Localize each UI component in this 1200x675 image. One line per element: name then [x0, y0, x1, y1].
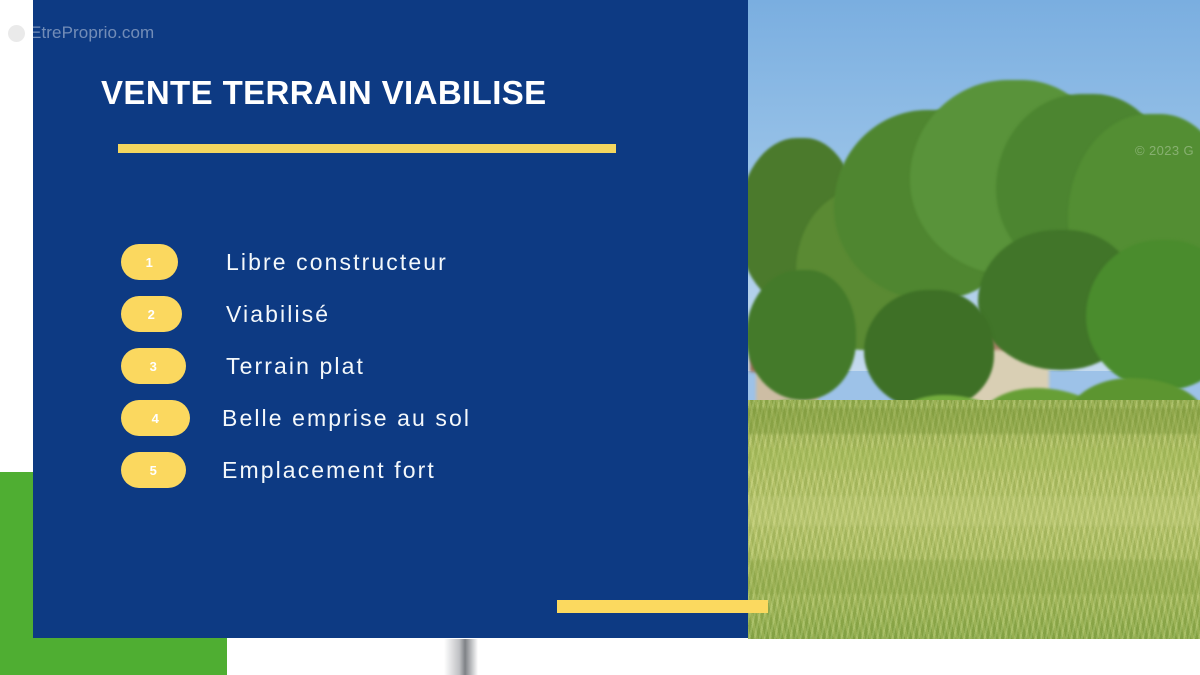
title-underline-rule: [118, 144, 616, 153]
circle-logo-icon: [8, 25, 25, 42]
list-item-label: Viabilisé: [226, 301, 330, 328]
photo-tree-canopy: [748, 270, 856, 400]
photo-tree-canopy: [864, 290, 994, 410]
list-item: 3 Terrain plat: [121, 340, 471, 392]
content-panel: VENTE TERRAIN VIABILISE 1 Libre construc…: [33, 0, 748, 638]
terrain-photo: © 2023 G: [748, 0, 1200, 639]
list-item-number-badge: 4: [121, 400, 190, 436]
list-item-label: Belle emprise au sol: [222, 405, 471, 432]
photo-meadow-band: [748, 448, 1200, 470]
list-item-number-badge: 5: [121, 452, 186, 488]
photo-credit-text: © 2023 G: [1135, 143, 1194, 158]
photo-meadow-band: [748, 408, 1200, 434]
slide-canvas: © 2023 G VENTE TERRAIN VIABILISE 1 Libre…: [0, 0, 1200, 675]
photo-meadow-band: [748, 560, 1200, 594]
list-item-number-badge: 2: [121, 296, 182, 332]
list-item-label: Libre constructeur: [226, 249, 448, 276]
list-item: 4 Belle emprise au sol: [121, 392, 471, 444]
list-item: 1 Libre constructeur: [121, 236, 471, 288]
list-item-label: Terrain plat: [226, 353, 365, 380]
page-title: VENTE TERRAIN VIABILISE: [101, 74, 547, 112]
list-item: 2 Viabilisé: [121, 288, 471, 340]
list-item-number-badge: 3: [121, 348, 186, 384]
bottom-accent-rule: [557, 600, 768, 613]
watermark: EtreProprio.com: [8, 23, 154, 43]
page-fold-shadow: [444, 639, 478, 675]
list-item: 5 Emplacement fort: [121, 444, 471, 496]
feature-list: 1 Libre constructeur 2 Viabilisé 3 Terra…: [121, 236, 471, 496]
watermark-text: EtreProprio.com: [30, 23, 154, 43]
photo-meadow: [748, 400, 1200, 639]
list-item-number-badge: 1: [121, 244, 178, 280]
list-item-label: Emplacement fort: [222, 457, 436, 484]
photo-meadow-band: [748, 496, 1200, 526]
